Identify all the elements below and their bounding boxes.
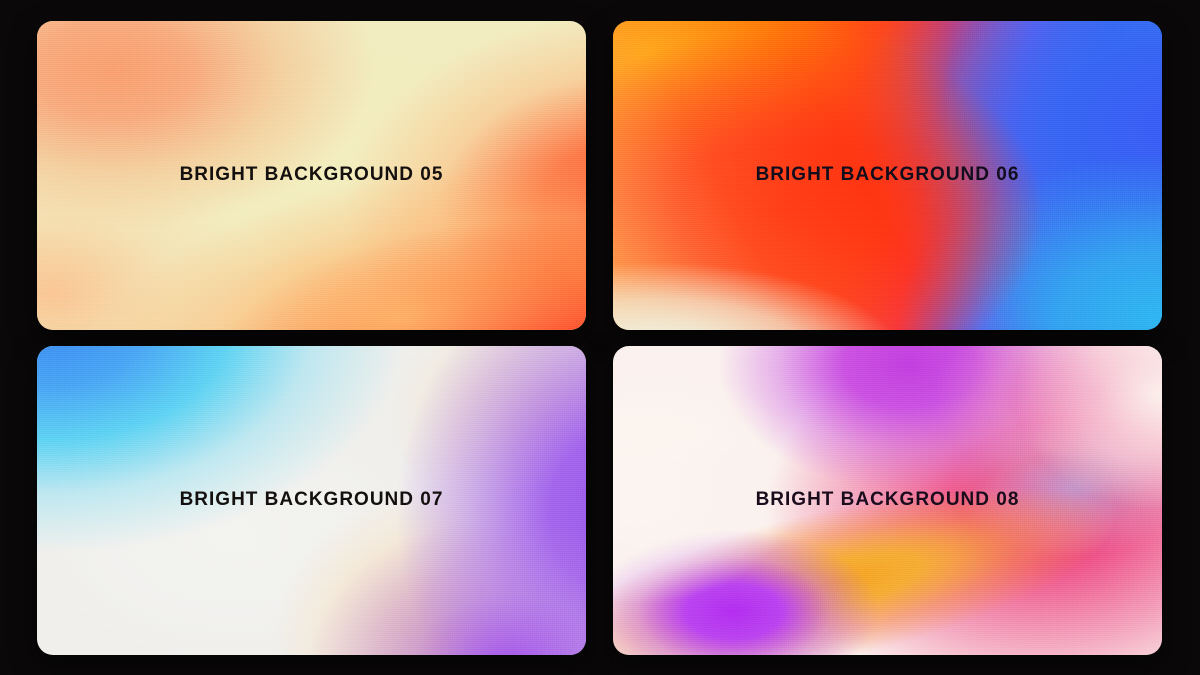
gradient-card-06[interactable]: BRIGHT BACKGROUND 06 xyxy=(613,21,1162,330)
card-grid: BRIGHT BACKGROUND 05 BRIGHT BACKGROUND 0… xyxy=(37,21,1162,655)
card-label-wrapper-06: BRIGHT BACKGROUND 06 xyxy=(613,21,1162,330)
gradient-card-05[interactable]: BRIGHT BACKGROUND 05 xyxy=(37,21,586,330)
card-title-07: BRIGHT BACKGROUND 07 xyxy=(180,489,444,511)
card-label-wrapper-05: BRIGHT BACKGROUND 05 xyxy=(37,21,586,330)
card-label-wrapper-08: BRIGHT BACKGROUND 08 xyxy=(613,346,1162,655)
card-label-wrapper-07: BRIGHT BACKGROUND 07 xyxy=(37,346,586,655)
gradient-card-08[interactable]: BRIGHT BACKGROUND 08 xyxy=(613,346,1162,655)
gradient-card-07[interactable]: BRIGHT BACKGROUND 07 xyxy=(37,346,586,655)
gradient-preview-canvas: BRIGHT BACKGROUND 05 BRIGHT BACKGROUND 0… xyxy=(0,0,1200,675)
card-title-05: BRIGHT BACKGROUND 05 xyxy=(180,164,444,186)
card-title-08: BRIGHT BACKGROUND 08 xyxy=(756,489,1020,511)
card-title-06: BRIGHT BACKGROUND 06 xyxy=(756,164,1020,186)
